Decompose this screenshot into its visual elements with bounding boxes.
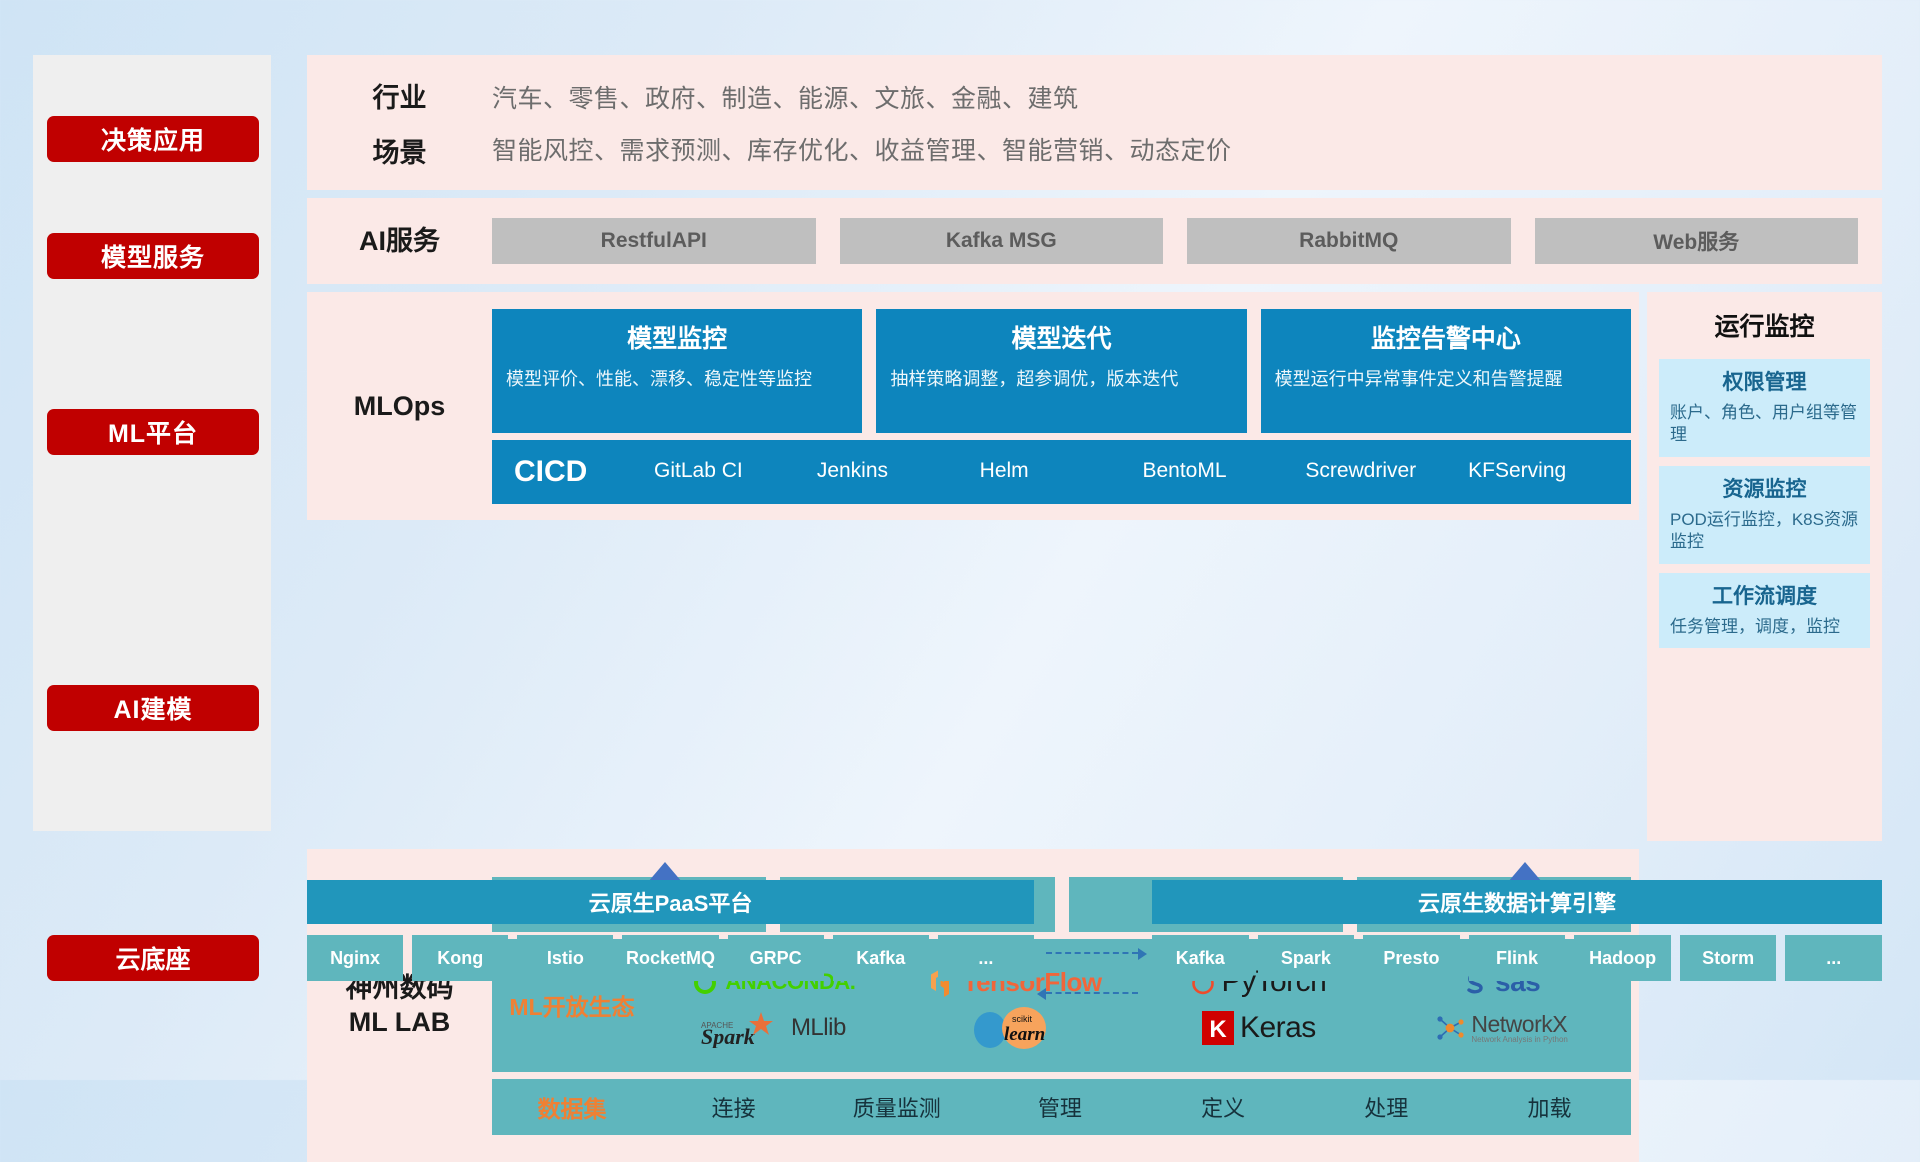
cicd-item-jenkins[interactable]: Jenkins — [817, 460, 980, 482]
dataset-title: 数据集 — [492, 1090, 652, 1124]
dataset-item-connect[interactable]: 连接 — [652, 1091, 815, 1123]
card-desc: 任务管理，调度，监控 — [1670, 616, 1859, 638]
cicd-title: CICD — [514, 455, 654, 489]
svg-text:learn: learn — [1004, 1024, 1045, 1045]
mlops-label: MLOps — [307, 390, 492, 423]
card-desc: POD运行监控，K8S资源监控 — [1670, 509, 1859, 554]
engine-chip-flink[interactable]: Flink — [1469, 935, 1566, 981]
paas-chip-more[interactable]: ... — [938, 935, 1034, 981]
spark-mllib-logo: APACHE Spark MLlib — [701, 1008, 846, 1048]
card-desc: 模型运行中异常事件定义和告警提醒 — [1275, 367, 1617, 391]
cicd-item-bentoml[interactable]: BentoML — [1142, 460, 1305, 482]
dash-arrow-left — [1046, 992, 1138, 994]
networkx-logo: NetworkX Network Analysis in Python — [1435, 1013, 1568, 1044]
paas-chip-list: Nginx Kong Istio RocketMQ GRPC Kafka ... — [307, 935, 1034, 981]
dataset-item-define[interactable]: 定义 — [1142, 1091, 1305, 1123]
mlops-card-list: 模型监控 模型评价、性能、漂移、稳定性等监控 模型迭代 抽样策略调整，超参调优，… — [492, 309, 1631, 433]
dataset-item-process[interactable]: 处理 — [1305, 1091, 1468, 1123]
decision-apps-keys: 行业 场景 — [307, 76, 492, 170]
engine-chip-presto[interactable]: Presto — [1363, 935, 1460, 981]
paas-chip-kafka[interactable]: Kafka — [833, 935, 929, 981]
cicd-item-list: GitLab CI Jenkins Helm BentoML Screwdriv… — [654, 460, 1631, 482]
ai-service-label: AI服务 — [307, 225, 492, 258]
engine-chip-more[interactable]: ... — [1785, 935, 1882, 981]
ai-service-chip-rabbitmq[interactable]: RabbitMQ — [1187, 218, 1511, 264]
engine-group: 云原生数据计算引擎 Kafka Spark Presto Flink Hadoo… — [1152, 880, 1882, 981]
paas-chip-kong[interactable]: Kong — [412, 935, 508, 981]
scikit-learn-icon: scikit learn — [968, 1005, 1064, 1051]
paas-chip-grpc[interactable]: GRPC — [728, 935, 824, 981]
architecture-diagram: 决策应用 模型服务 ML平台 AI建模 云底座 行业 场景 汽车、零售、政府、制… — [0, 0, 1920, 1080]
spark-icon: APACHE Spark — [701, 1008, 785, 1048]
runtime-monitor-title: 运行监控 — [1659, 302, 1870, 350]
keras-logo: K Keras — [1202, 1011, 1316, 1045]
card-desc: 模型评价、性能、漂移、稳定性等监控 — [506, 367, 848, 391]
monitor-card-permission[interactable]: 权限管理 账户、角色、用户组等管理 — [1659, 359, 1870, 457]
engine-chip-hadoop[interactable]: Hadoop — [1574, 935, 1671, 981]
card-desc: 抽样策略调整，超参调优，版本迭代 — [890, 367, 1232, 391]
engine-chip-list: Kafka Spark Presto Flink Hadoop Storm ..… — [1152, 935, 1882, 981]
svg-text:scikit: scikit — [1012, 1014, 1032, 1024]
ai-service-chip-kafka-msg[interactable]: Kafka MSG — [840, 218, 1164, 264]
svg-text:Spark: Spark — [701, 1024, 755, 1048]
dataset-item-quality[interactable]: 质量监测 — [815, 1091, 978, 1123]
keras-icon: K — [1202, 1011, 1234, 1045]
dataset-row: 数据集 连接 质量监测 管理 定义 处理 加载 — [492, 1079, 1631, 1135]
paas-chip-nginx[interactable]: Nginx — [307, 935, 403, 981]
layer-rail: 决策应用 模型服务 ML平台 AI建模 — [33, 55, 271, 831]
mllib-wordmark: MLlib — [791, 1014, 846, 1042]
runtime-monitor-panel: 运行监控 权限管理 账户、角色、用户组等管理 资源监控 POD运行监控，K8S资… — [1647, 292, 1882, 841]
cicd-item-screwdriver[interactable]: Screwdriver — [1305, 460, 1468, 482]
monitor-card-resource[interactable]: 资源监控 POD运行监控，K8S资源监控 — [1659, 466, 1870, 564]
cicd-item-kfserving[interactable]: KFServing — [1468, 460, 1631, 482]
svg-text:K: K — [1209, 1016, 1227, 1043]
mlops-band: MLOps 模型监控 模型评价、性能、漂移、稳定性等监控 模型迭代 抽样策略调整… — [307, 292, 1639, 520]
card-title: 工作流调度 — [1670, 580, 1859, 610]
ml-lab-label: 神州数码 ML LAB — [307, 972, 492, 1040]
keras-wordmark: Keras — [1240, 1011, 1316, 1045]
dash-arrow-right — [1046, 952, 1138, 954]
mlops-card-model-monitoring[interactable]: 模型监控 模型评价、性能、漂移、稳定性等监控 — [492, 309, 862, 433]
paas-chip-istio[interactable]: Istio — [517, 935, 613, 981]
rail-item-ml-platform[interactable]: ML平台 — [47, 409, 259, 455]
cicd-item-gitlab-ci[interactable]: GitLab CI — [654, 460, 817, 482]
ai-service-chip-list: RestfulAPI Kafka MSG RabbitMQ Web服务 — [492, 218, 1882, 264]
cicd-item-helm[interactable]: Helm — [980, 460, 1143, 482]
ai-service-band: AI服务 RestfulAPI Kafka MSG RabbitMQ Web服务 — [307, 198, 1882, 284]
networkx-icon — [1435, 1013, 1465, 1043]
engine-chip-storm[interactable]: Storm — [1680, 935, 1777, 981]
dataset-item-load[interactable]: 加载 — [1468, 1091, 1631, 1123]
engine-title: 云原生数据计算引擎 — [1152, 880, 1882, 924]
scenario-label: 场景 — [373, 131, 427, 170]
bidirectional-link — [1034, 880, 1152, 981]
paas-chip-rocketmq[interactable]: RocketMQ — [622, 935, 718, 981]
mlops-card-alert-center[interactable]: 监控告警中心 模型运行中异常事件定义和告警提醒 — [1261, 309, 1631, 433]
mlops-row: MLOps 模型监控 模型评价、性能、漂移、稳定性等监控 模型迭代 抽样策略调整… — [307, 292, 1882, 841]
monitor-card-workflow[interactable]: 工作流调度 任务管理，调度，监控 — [1659, 573, 1870, 648]
main-stack: 行业 场景 汽车、零售、政府、制造、能源、文旅、金融、建筑 智能风控、需求预测、… — [307, 55, 1882, 1162]
rail-item-ai-modeling[interactable]: AI建模 — [47, 685, 259, 731]
industry-label: 行业 — [373, 76, 427, 115]
card-title: 权限管理 — [1670, 366, 1859, 396]
scikit-learn-logo: scikit learn — [968, 1005, 1064, 1051]
card-title: 资源监控 — [1670, 473, 1859, 503]
cloud-base-section: 云原生PaaS平台 Nginx Kong Istio RocketMQ GRPC… — [307, 880, 1882, 981]
ai-service-chip-web-service[interactable]: Web服务 — [1535, 218, 1859, 264]
card-title: 模型监控 — [506, 319, 848, 355]
networkx-wordmark: NetworkX — [1471, 1013, 1568, 1036]
ml-ecosystem-title: ML开放生态 — [492, 988, 652, 1022]
card-title: 模型迭代 — [890, 319, 1232, 355]
engine-chip-spark[interactable]: Spark — [1258, 935, 1355, 981]
rail-item-cloud-base[interactable]: 云底座 — [47, 935, 259, 981]
scenario-value: 智能风控、需求预测、库存优化、收益管理、智能营销、动态定价 — [492, 131, 1232, 167]
decision-apps-values: 汽车、零售、政府、制造、能源、文旅、金融、建筑 智能风控、需求预测、库存优化、收… — [492, 79, 1882, 167]
cicd-bar: CICD GitLab CI Jenkins Helm BentoML Scre… — [492, 440, 1631, 504]
dataset-item-list: 连接 质量监测 管理 定义 处理 加载 — [652, 1091, 1631, 1123]
paas-group: 云原生PaaS平台 Nginx Kong Istio RocketMQ GRPC… — [307, 880, 1034, 981]
networkx-tagline: Network Analysis in Python — [1471, 1036, 1568, 1044]
card-title: 监控告警中心 — [1275, 319, 1617, 355]
card-desc: 账户、角色、用户组等管理 — [1670, 402, 1859, 447]
ml-lab-label-line2: ML LAB — [307, 1006, 492, 1040]
ai-service-chip-restfulapi[interactable]: RestfulAPI — [492, 218, 816, 264]
dataset-item-manage[interactable]: 管理 — [978, 1091, 1141, 1123]
rail-item-decision-apps[interactable]: 决策应用 — [47, 116, 259, 162]
mlops-card-model-iteration[interactable]: 模型迭代 抽样策略调整，超参调优，版本迭代 — [876, 309, 1246, 433]
industry-value: 汽车、零售、政府、制造、能源、文旅、金融、建筑 — [492, 79, 1079, 115]
mlops-content: 模型监控 模型评价、性能、漂移、稳定性等监控 模型迭代 抽样策略调整，超参调优，… — [492, 309, 1639, 504]
paas-title: 云原生PaaS平台 — [307, 880, 1034, 924]
engine-chip-kafka[interactable]: Kafka — [1152, 935, 1249, 981]
rail-item-model-service[interactable]: 模型服务 — [47, 233, 259, 279]
decision-apps-band: 行业 场景 汽车、零售、政府、制造、能源、文旅、金融、建筑 智能风控、需求预测、… — [307, 55, 1882, 190]
